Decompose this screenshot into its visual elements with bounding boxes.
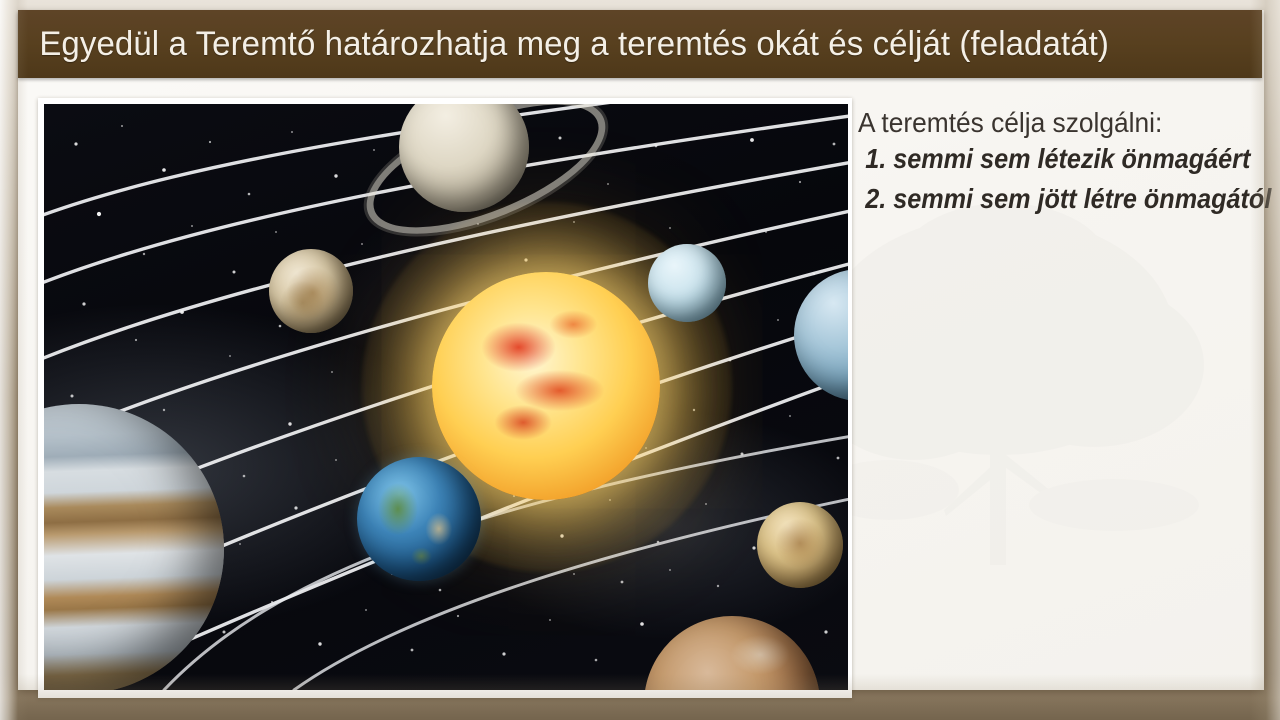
solar-system-image <box>38 98 852 698</box>
body-text-block: A teremtés célja szolgálni: 1. semmi sem… <box>858 106 1270 219</box>
space-illustration <box>44 104 848 690</box>
planet-mercury <box>269 249 353 333</box>
lead-line: A teremtés célja szolgálni: <box>858 106 1245 139</box>
planet-uranus <box>648 244 726 322</box>
planet-venus <box>757 502 843 588</box>
list-item-2: 2. semmi sem jött létre önmagától <box>858 179 1229 219</box>
sun <box>432 272 660 500</box>
slide-root: A teremtés célja szolgálni: 1. semmi sem… <box>0 0 1280 720</box>
list-item-1: 1. semmi sem létezik önmagáért <box>858 139 1229 179</box>
page-title: Egyedül a Teremtő határozhatja meg a ter… <box>18 25 1109 64</box>
title-banner: Egyedül a Teremtő határozhatja meg a ter… <box>18 10 1262 78</box>
tree-watermark-icon <box>794 160 1224 630</box>
content-panel: A teremtés célja szolgálni: 1. semmi sem… <box>18 10 1264 690</box>
planet-earth <box>357 457 481 581</box>
